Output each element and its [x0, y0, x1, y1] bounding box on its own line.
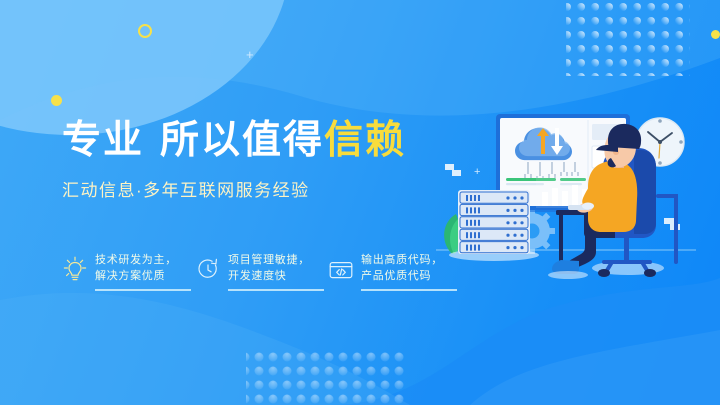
feature-text-block: 项目管理敏捷， 开发速度快 [228, 252, 324, 291]
yellow-dot-decoration [51, 95, 62, 106]
feature-line-1: 技术研发为主， [95, 252, 191, 268]
headline-accent: 信赖 [324, 119, 406, 162]
developer-at-desk-illustration [428, 92, 720, 307]
feature-list: 技术研发为主， 解决方案优质 项目管理敏捷， 开发速度快 [62, 252, 461, 291]
yellow-dot-decoration-right [711, 30, 720, 39]
promo-banner: + + 专业所以值得信赖 汇动信息·多年互联网服务经验 [0, 0, 720, 405]
feature-underline [95, 289, 191, 291]
yellow-ring-decoration [138, 24, 152, 38]
code-window-icon [328, 255, 354, 285]
feature-underline [228, 289, 324, 291]
headline-part-2: 所以值得 [160, 119, 324, 162]
clock-icon [195, 255, 221, 285]
headline-part-1: 专业 [62, 119, 144, 162]
feature-line-1: 项目管理敏捷， [228, 252, 324, 268]
feature-line-2: 开发速度快 [228, 268, 324, 284]
top-left-blob-shape [0, 0, 290, 135]
lightbulb-icon [62, 255, 88, 285]
headline-block: 专业所以值得信赖 汇动信息·多年互联网服务经验 [62, 118, 482, 202]
subtitle: 汇动信息·多年互联网服务经验 [62, 180, 482, 202]
feature-item-agile[interactable]: 项目管理敏捷， 开发速度快 [195, 252, 328, 291]
feature-line-2: 解决方案优质 [95, 268, 191, 284]
page-title: 专业所以值得信赖 [62, 118, 482, 164]
feature-item-research[interactable]: 技术研发为主， 解决方案优质 [62, 252, 195, 291]
server-rack-icon [449, 190, 539, 261]
feature-text-block: 技术研发为主， 解决方案优质 [95, 252, 191, 291]
plus-mark-decoration: + [246, 48, 254, 61]
